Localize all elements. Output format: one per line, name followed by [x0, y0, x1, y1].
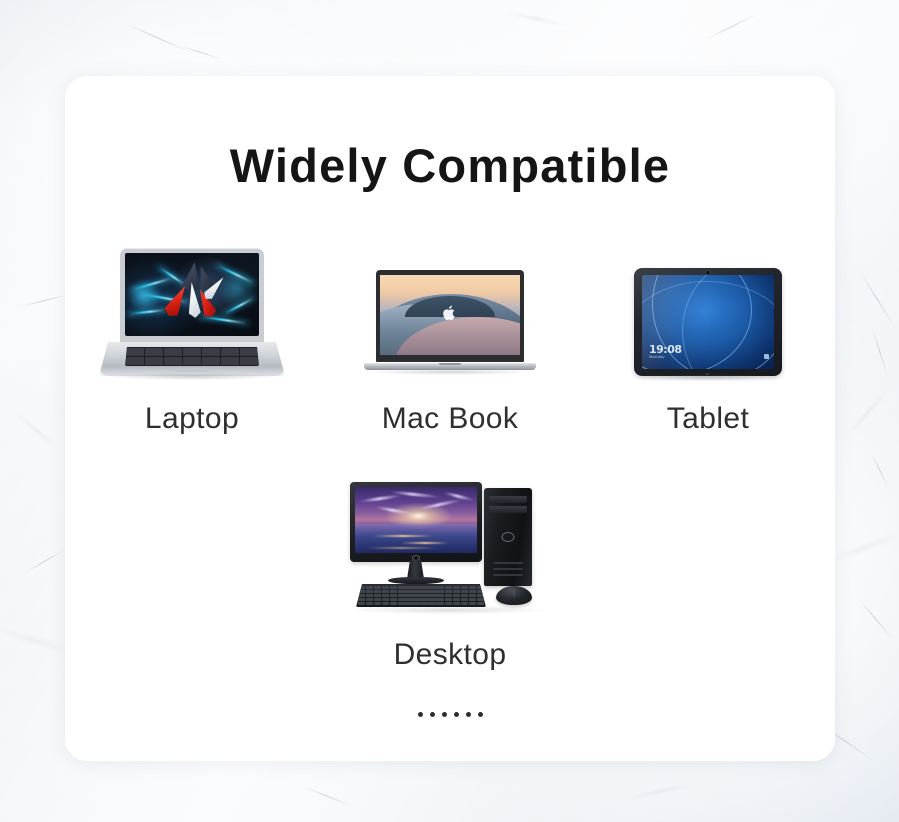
macbook-screen [380, 275, 520, 355]
page-title: Widely Compatible [65, 138, 835, 193]
marble-vein [846, 386, 892, 436]
laptop-icon [99, 248, 285, 376]
marble-vein [501, 10, 574, 27]
pagination-dot[interactable] [466, 712, 471, 717]
marble-vein [871, 328, 888, 378]
desktop-keyboard [356, 584, 486, 607]
device-label-desktop: Desktop [394, 638, 507, 672]
laptop-base [99, 342, 285, 376]
tablet-camera-icon [707, 271, 710, 274]
desktop-icon [350, 480, 550, 612]
pagination-dot[interactable] [478, 712, 483, 717]
marble-vein [302, 786, 354, 808]
page-background: Widely Compatible [0, 0, 899, 822]
marble-vein [179, 45, 223, 60]
pagination-dot[interactable] [430, 712, 435, 717]
laptop-wallpaper-figure [163, 262, 225, 320]
macbook-image [354, 246, 546, 376]
device-item-desktop[interactable]: Desktop [354, 482, 546, 672]
compatibility-card: Widely Compatible [65, 76, 835, 761]
laptop-keyboard [125, 347, 259, 366]
desktop-monitor [350, 482, 482, 562]
marble-vein [19, 293, 72, 307]
laptop-lid [120, 248, 264, 345]
laptop-screen [125, 253, 259, 336]
device-row-bottom: Desktop [65, 482, 835, 672]
device-label-macbook: Mac Book [382, 402, 519, 436]
marble-vein [25, 548, 67, 573]
macbook-shadow [368, 369, 532, 375]
marble-vein [703, 12, 761, 41]
tablet-icon: 19:08 Monday ▭ [634, 268, 782, 376]
device-item-tablet[interactable]: 19:08 Monday ▭ Tablet [612, 246, 804, 436]
pagination-dots[interactable] [65, 712, 835, 717]
macbook-notch [439, 363, 461, 365]
device-label-tablet: Tablet [667, 402, 749, 436]
tablet-shadow [640, 374, 776, 381]
pagination-dot[interactable] [454, 712, 459, 717]
device-label-laptop: Laptop [145, 402, 239, 436]
desktop-mouse [496, 586, 532, 605]
tablet-image: 19:08 Monday ▭ [612, 246, 804, 376]
marble-vein [858, 270, 897, 332]
tablet-screen: 19:08 Monday [642, 275, 774, 369]
apple-logo-icon [443, 304, 458, 321]
macbook-lid [376, 270, 524, 362]
macbook-icon [364, 266, 536, 376]
desktop-tower-logo [502, 532, 515, 542]
device-row-top: Laptop [65, 246, 835, 436]
marble-vein [123, 22, 195, 55]
device-item-laptop[interactable]: Laptop [96, 246, 288, 436]
desktop-image [350, 482, 550, 612]
laptop-trackpad [175, 368, 209, 372]
desktop-tower [484, 488, 532, 586]
pagination-dot[interactable] [442, 712, 447, 717]
desktop-shadow [354, 606, 544, 614]
pagination-dot[interactable] [418, 712, 423, 717]
marble-vein [858, 598, 896, 643]
tablet-battery-icon [764, 354, 769, 359]
laptop-shadow [105, 373, 279, 380]
tablet-body: 19:08 Monday ▭ [634, 268, 782, 376]
desktop-screen [355, 487, 477, 553]
marble-vein [871, 452, 889, 488]
desktop-monitor-logo [412, 555, 420, 561]
tablet-clock-widget: 19:08 Monday [649, 344, 682, 360]
desktop-monitor-foot [388, 577, 444, 584]
device-item-macbook[interactable]: Mac Book [354, 246, 546, 436]
marble-vein [14, 412, 60, 451]
laptop-image [96, 246, 288, 376]
marble-vein [621, 781, 704, 800]
